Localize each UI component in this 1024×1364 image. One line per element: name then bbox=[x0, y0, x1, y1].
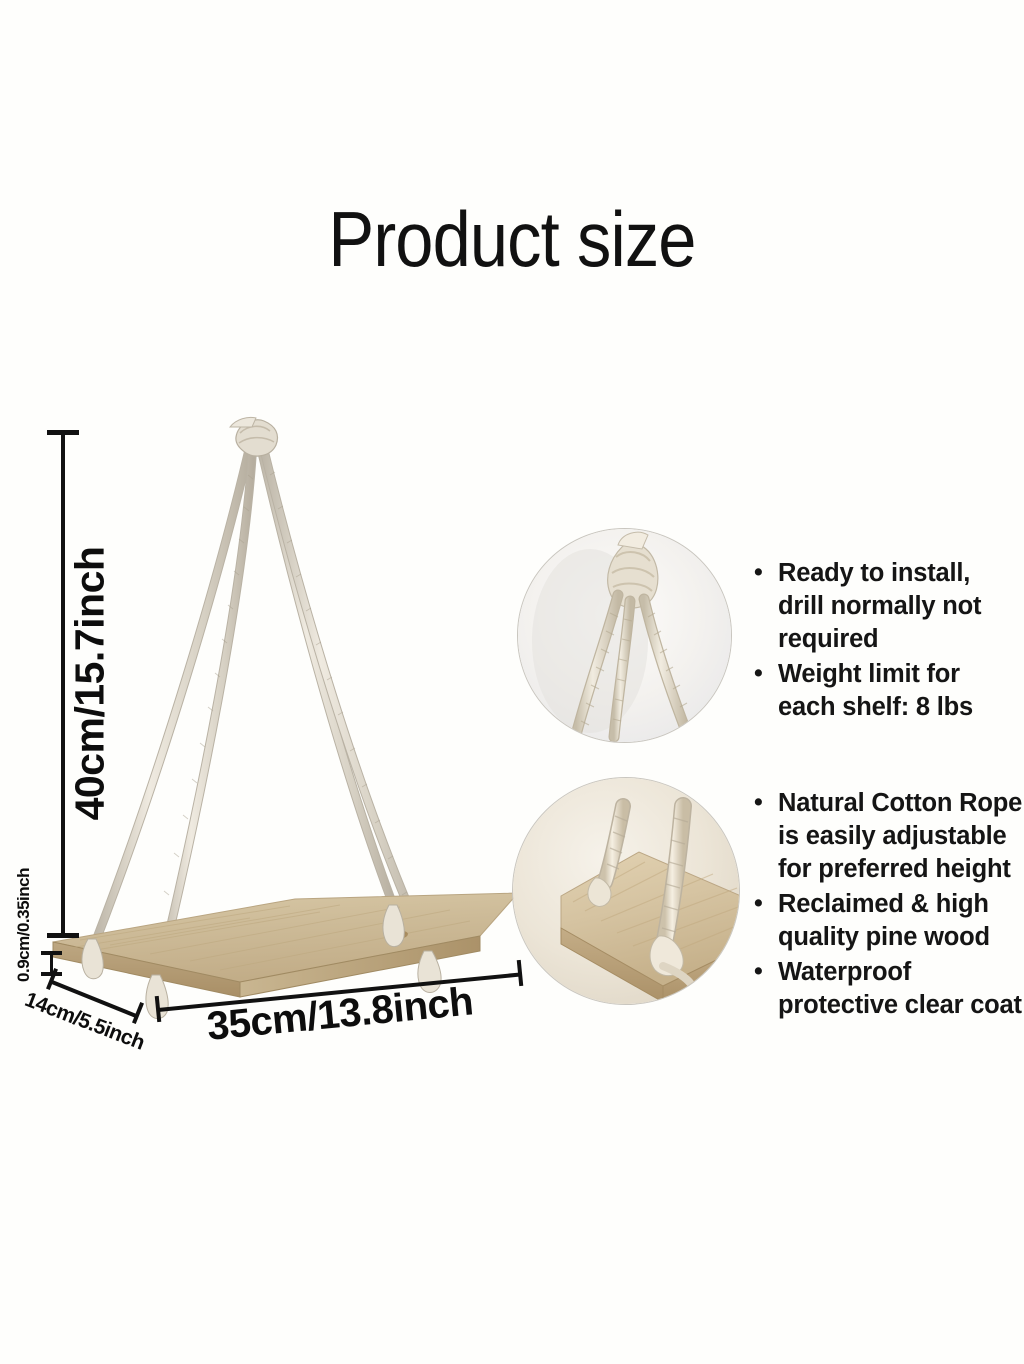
shelf-rope-closeup-photo bbox=[512, 777, 740, 1005]
thickness-tick-top bbox=[41, 951, 62, 955]
height-dimension-line bbox=[61, 432, 65, 936]
list-item: Ready to install, drill normally not req… bbox=[752, 557, 1014, 656]
features-material-list: Natural Cotton Rope is easily adjustable… bbox=[752, 787, 1024, 1024]
rope-apex-knot bbox=[230, 417, 278, 456]
list-item: Waterproof protective clear coat bbox=[752, 956, 1024, 1022]
list-item: Natural Cotton Rope is easily adjustable… bbox=[752, 787, 1024, 886]
product-illustration bbox=[40, 415, 540, 1045]
list-item: Reclaimed & high quality pine wood bbox=[752, 888, 1024, 954]
rope-knot-closeup-photo bbox=[517, 528, 732, 743]
features-install-list: Ready to install, drill normally not req… bbox=[752, 557, 1014, 726]
page-title: Product size bbox=[61, 196, 962, 282]
height-dimension-label: 40cm/15.7inch bbox=[67, 524, 114, 844]
product-size-infographic: Product size bbox=[0, 0, 1024, 1364]
height-tick-top bbox=[47, 430, 79, 435]
list-item: Weight limit for each shelf: 8 lbs bbox=[752, 658, 1014, 724]
height-tick-bottom bbox=[47, 933, 79, 938]
